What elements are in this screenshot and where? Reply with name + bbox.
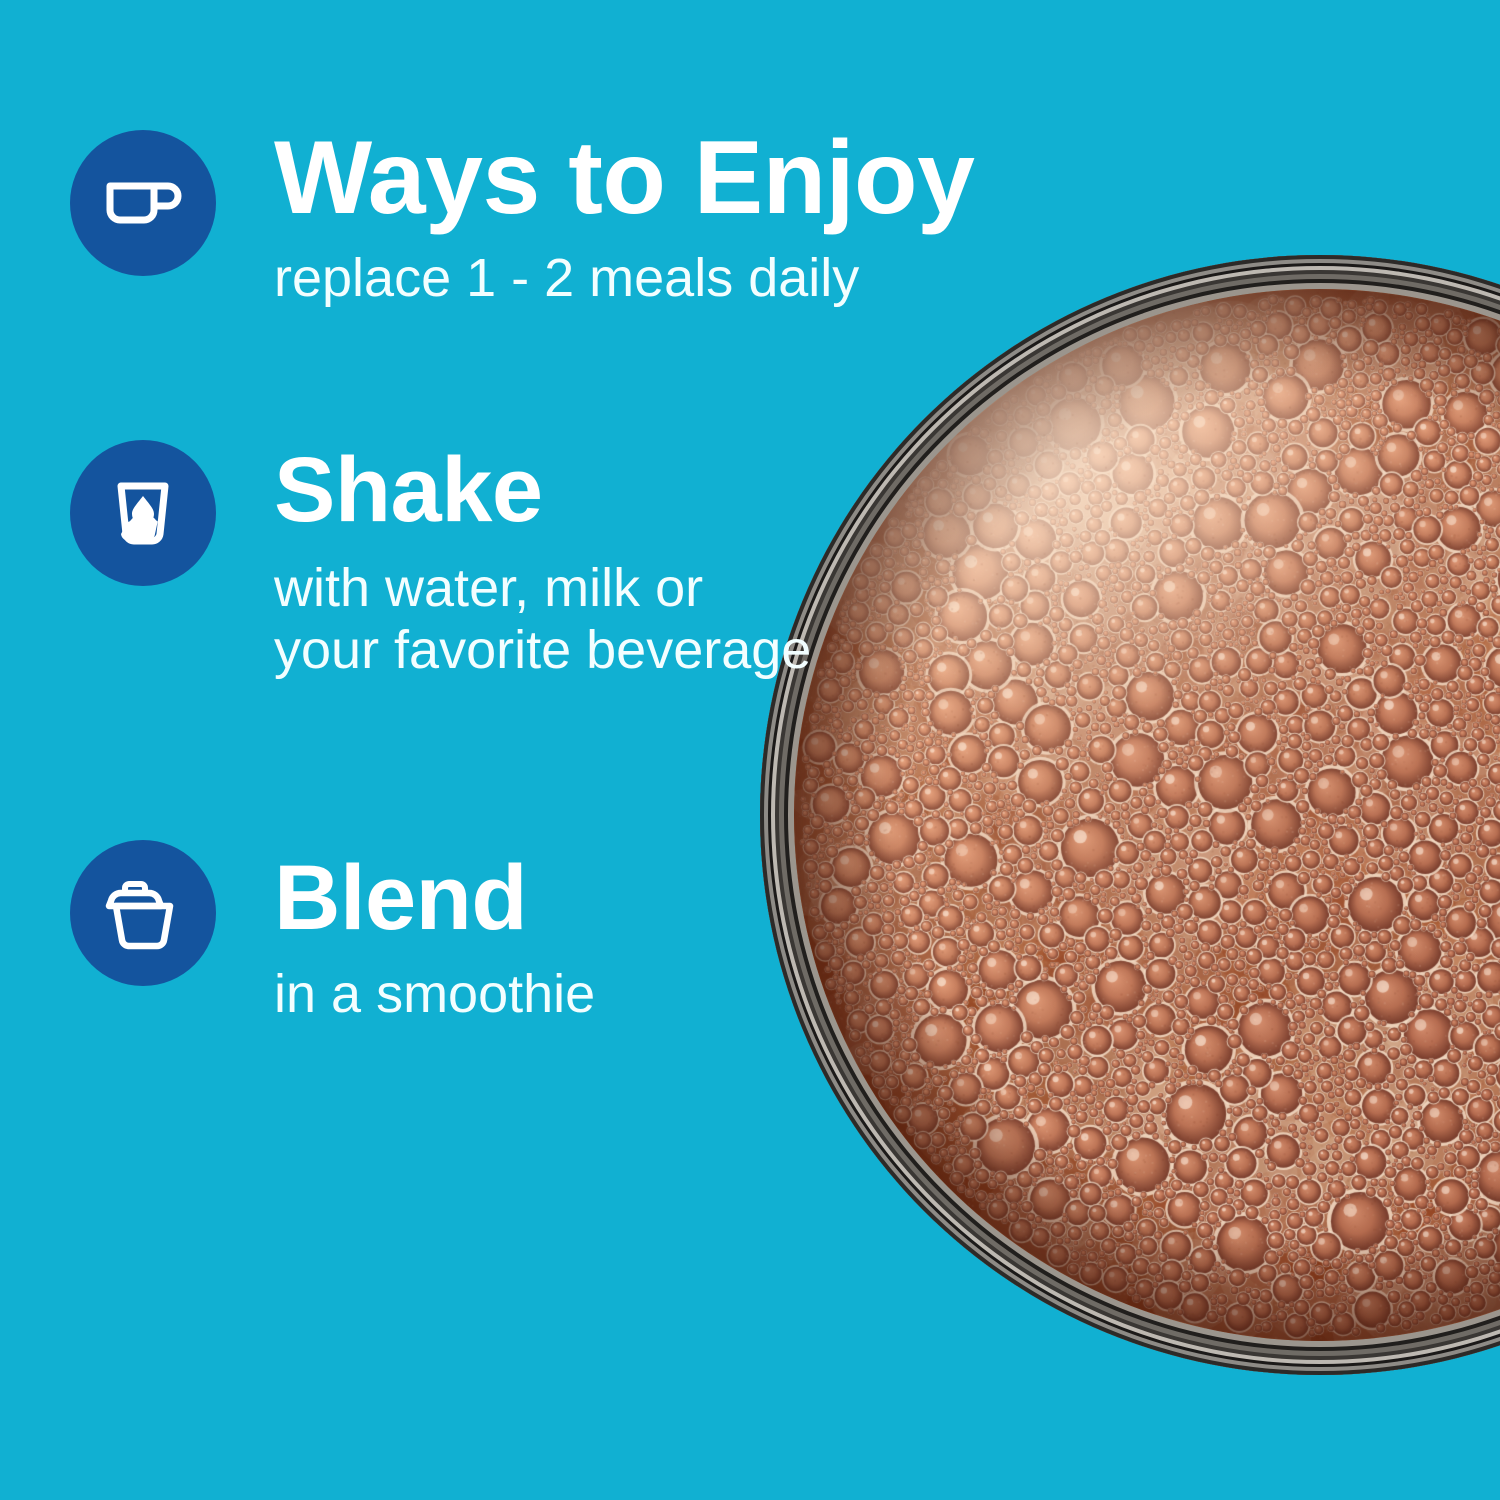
glass-water-icon-badge [70, 440, 216, 586]
ways-to-enjoy-infographic: Ways to Enjoy replace 1 - 2 meals daily … [0, 0, 1500, 1500]
page-title: Ways to Enjoy [274, 126, 974, 230]
blend-title: Blend [274, 852, 595, 944]
ways-to-enjoy-copy: Ways to Enjoy replace 1 - 2 meals daily [274, 130, 974, 310]
blend-copy: Blend in a smoothie [274, 840, 595, 1026]
mug-icon [100, 160, 186, 246]
section-shake: Shake with water, milk or your favorite … [70, 440, 814, 681]
blend-subtitle: in a smoothie [274, 964, 595, 1026]
mug-icon-badge [70, 130, 216, 276]
shake-subtitle: with water, milk or your favorite bevera… [274, 558, 814, 681]
ways-to-enjoy-subtitle: replace 1 - 2 meals daily [274, 248, 974, 310]
glass-water-icon [102, 472, 184, 554]
shaker-bottle-icon-badge [70, 840, 216, 986]
section-ways-to-enjoy: Ways to Enjoy replace 1 - 2 meals daily [70, 130, 974, 310]
section-blend: Blend in a smoothie [70, 840, 595, 1026]
smoothie-liquid-surface [794, 289, 1500, 1341]
shake-copy: Shake with water, milk or your favorite … [274, 440, 814, 681]
shaker-bottle-icon [101, 871, 185, 955]
shake-title: Shake [274, 444, 814, 536]
smoothie-glass-photo [760, 255, 1500, 1375]
